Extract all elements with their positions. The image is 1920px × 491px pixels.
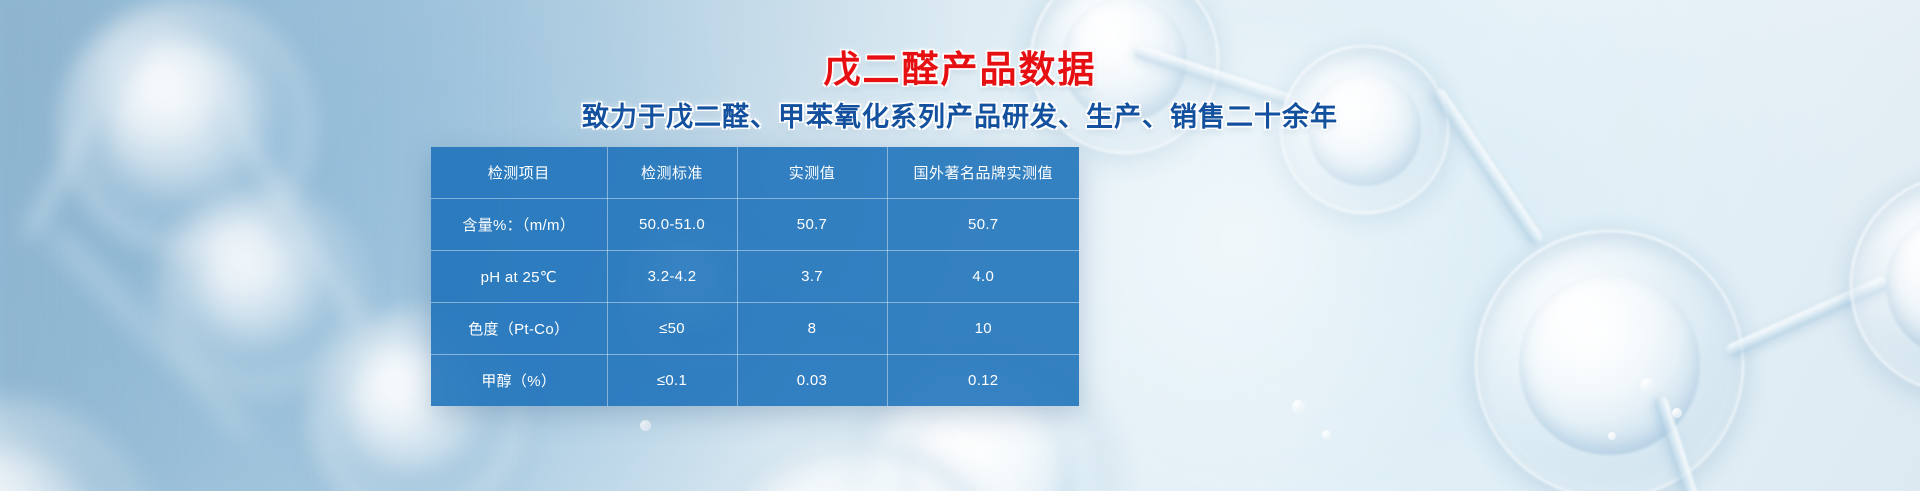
cell-measured: 0.03 bbox=[737, 355, 887, 407]
product-data-table-wrapper: 检测项目 检测标准 实测值 国外著名品牌实测值 含量%：（m/m） 50.0-5… bbox=[431, 147, 1079, 406]
table-row: 色度（Pt-Co） ≤50 8 10 bbox=[431, 303, 1079, 355]
cell-measured: 50.7 bbox=[737, 199, 887, 251]
column-header-foreign: 国外著名品牌实测值 bbox=[887, 147, 1079, 199]
headline-block: 戊二醛产品数据 致力于戊二醛、甲苯氧化系列产品研发、生产、销售二十余年 bbox=[0, 50, 1920, 133]
column-header-measured: 实测值 bbox=[737, 147, 887, 199]
cell-standard: 50.0-51.0 bbox=[607, 199, 737, 251]
page-subtitle: 致力于戊二醛、甲苯氧化系列产品研发、生产、销售二十余年 bbox=[0, 102, 1920, 133]
bubble-speck bbox=[1608, 432, 1616, 440]
bubble-speck bbox=[1640, 378, 1655, 393]
cell-foreign: 0.12 bbox=[887, 355, 1079, 407]
table-row: pH at 25℃ 3.2-4.2 3.7 4.0 bbox=[431, 251, 1079, 303]
table-row: 含量%：（m/m） 50.0-51.0 50.7 50.7 bbox=[431, 199, 1079, 251]
cell-measured: 3.7 bbox=[737, 251, 887, 303]
cell-foreign: 4.0 bbox=[887, 251, 1079, 303]
cell-standard: ≤0.1 bbox=[607, 355, 737, 407]
column-header-item: 检测项目 bbox=[431, 147, 607, 199]
cell-item: pH at 25℃ bbox=[431, 251, 607, 303]
cell-item: 甲醇（%） bbox=[431, 355, 607, 407]
cell-standard: 3.2-4.2 bbox=[607, 251, 737, 303]
cell-foreign: 50.7 bbox=[887, 199, 1079, 251]
table-row: 甲醇（%） ≤0.1 0.03 0.12 bbox=[431, 355, 1079, 407]
cell-standard: ≤50 bbox=[607, 303, 737, 355]
cell-item: 色度（Pt-Co） bbox=[431, 303, 607, 355]
bubble-speck bbox=[640, 420, 651, 431]
cell-foreign: 10 bbox=[887, 303, 1079, 355]
cell-measured: 8 bbox=[737, 303, 887, 355]
product-data-banner: 戊二醛产品数据 致力于戊二醛、甲苯氧化系列产品研发、生产、销售二十余年 检测项目… bbox=[0, 0, 1920, 491]
table-header-row: 检测项目 检测标准 实测值 国外著名品牌实测值 bbox=[431, 147, 1079, 199]
bubble-speck bbox=[1672, 408, 1682, 418]
column-header-standard: 检测标准 bbox=[607, 147, 737, 199]
bubble-speck bbox=[1322, 430, 1331, 439]
page-title: 戊二醛产品数据 bbox=[0, 50, 1920, 91]
bubble-speck bbox=[1292, 400, 1305, 413]
product-data-table: 检测项目 检测标准 实测值 国外著名品牌实测值 含量%：（m/m） 50.0-5… bbox=[431, 147, 1079, 406]
cell-item: 含量%：（m/m） bbox=[431, 199, 607, 251]
